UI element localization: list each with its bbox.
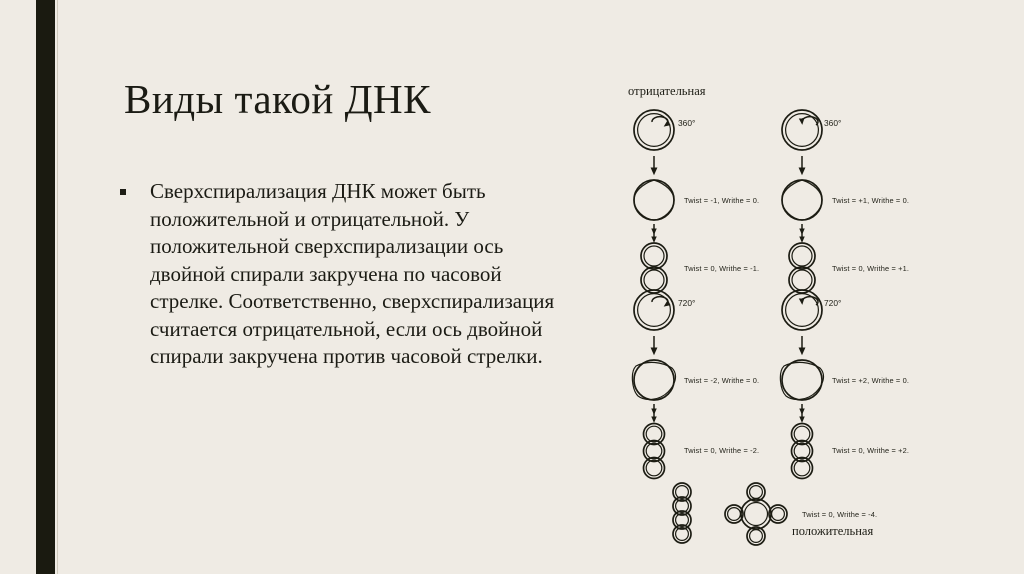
slide: Виды такой ДНК Сверхспирализация ДНК мож… bbox=[0, 0, 1024, 574]
ring-relaxed-pos-360: 360° bbox=[782, 110, 841, 172]
ring-relaxed-neg-360: 360° bbox=[634, 110, 695, 172]
equation-neg-twist-1: Twist = -1, Writhe = 0. bbox=[684, 196, 759, 205]
svg-text:720°: 720° bbox=[824, 298, 841, 308]
ring-supercoil-pos-2: Twist = 0, Writhe = +2. bbox=[792, 424, 910, 479]
svg-text:360°: 360° bbox=[824, 118, 841, 128]
bullet-square-icon bbox=[120, 189, 126, 195]
equation-pos-twist-2: Twist = +2, Writhe = 0. bbox=[832, 376, 909, 385]
ring-twisted-pos-1: Twist = +1, Writhe = 0. bbox=[782, 180, 909, 240]
ring-twisted-neg-1: Twist = -1, Writhe = 0. bbox=[634, 180, 759, 240]
diagram-figure: 360° Twist = -1, Writhe = 0. Twist = 0, … bbox=[606, 72, 936, 552]
svg-text:720°: 720° bbox=[678, 298, 695, 308]
ring-relaxed-pos-720: 720° bbox=[782, 290, 841, 352]
equation-pos-writhe-1: Twist = 0, Writhe = +1. bbox=[832, 264, 909, 273]
ring-figure8-neg-1: Twist = 0, Writhe = -1. bbox=[641, 243, 759, 293]
svg-text:360°: 360° bbox=[678, 118, 695, 128]
page-title: Виды такой ДНК bbox=[124, 77, 644, 122]
equation-neg-writhe-2: Twist = 0, Writhe = -2. bbox=[684, 446, 759, 455]
ring-twisted-neg-2: Twist = -2, Writhe = 0. bbox=[632, 360, 759, 420]
body-content: Сверхспирализация ДНК может быть положит… bbox=[120, 178, 560, 371]
list-item: Сверхспирализация ДНК может быть положит… bbox=[120, 178, 560, 371]
equation-neg-writhe-1: Twist = 0, Writhe = -1. bbox=[684, 264, 759, 273]
ring-relaxed-neg-720: 720° bbox=[634, 290, 695, 352]
ring-figure8-pos-1: Twist = 0, Writhe = +1. bbox=[789, 243, 909, 293]
accent-bar-hairline bbox=[57, 0, 58, 574]
ring-twisted-pos-2: Twist = +2, Writhe = 0. bbox=[780, 360, 909, 420]
equation-pos-writhe-2: Twist = 0, Writhe = +2. bbox=[832, 446, 909, 455]
equation-pos-twist-1: Twist = +1, Writhe = 0. bbox=[832, 196, 909, 205]
supercoiling-diagram: отрицательная положительная 360° bbox=[606, 72, 936, 552]
plectonemic-rings: Plectonemic bbox=[658, 483, 702, 552]
toroidal-rings: Toroidal bbox=[725, 483, 787, 552]
equation-neg-twist-2: Twist = -2, Writhe = 0. bbox=[684, 376, 759, 385]
bullet-text: Сверхспирализация ДНК может быть положит… bbox=[150, 178, 560, 371]
ring-supercoil-neg-2: Twist = 0, Writhe = -2. bbox=[644, 424, 760, 479]
equation-forms-writhe: Twist = 0, Writhe = -4. bbox=[802, 510, 877, 519]
accent-bar bbox=[36, 0, 55, 574]
